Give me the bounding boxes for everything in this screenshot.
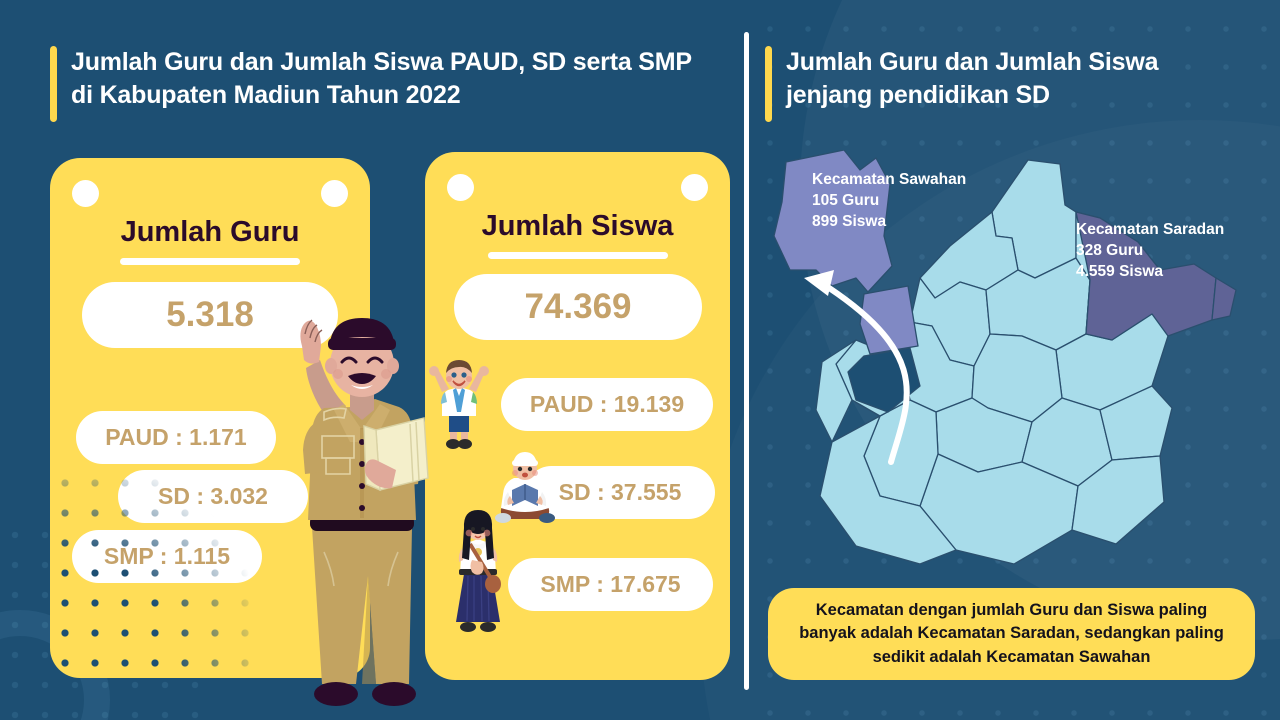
right-panel-header: Jumlah Guru dan Jumlah Siswa jenjang pen…	[765, 46, 1235, 122]
card-title-siswa: Jumlah Siswa	[425, 210, 730, 243]
summary-note-box: Kecamatan dengan jumlah Guru dan Siswa p…	[768, 588, 1255, 680]
siswa-paud-value: PAUD : 19.139	[501, 378, 713, 431]
card-title-underline	[120, 258, 300, 265]
left-panel-header: Jumlah Guru dan Jumlah Siswa PAUD, SD se…	[50, 46, 710, 122]
siswa-smp-value: SMP : 17.675	[508, 558, 713, 611]
card-hole-left	[447, 174, 474, 201]
guru-paud-value: PAUD : 1.171	[76, 411, 276, 464]
map-district-saradan-tail	[1212, 278, 1236, 320]
map-label-sawahan-students: 899 Siswa	[812, 212, 966, 233]
card-title-underline	[488, 252, 668, 259]
card-title-guru: Jumlah Guru	[50, 216, 370, 249]
student-girl-illustration	[448, 508, 508, 636]
panel-divider	[744, 32, 749, 690]
map-label-saradan-name: Kecamatan Saradan	[1076, 220, 1224, 241]
card-dot-texture	[50, 468, 250, 678]
summary-note-text: Kecamatan dengan jumlah Guru dan Siswa p…	[786, 599, 1237, 669]
page-title: Jumlah Guru dan Jumlah Siswa PAUD, SD se…	[71, 46, 710, 113]
map-label-sawahan-teachers: 105 Guru	[812, 191, 966, 212]
total-siswa-value: 74.369	[454, 274, 702, 340]
teacher-illustration	[272, 312, 452, 720]
header-accent-bar	[50, 46, 57, 122]
header-accent-bar	[765, 46, 772, 122]
student-boy-cheering-illustration	[428, 358, 490, 450]
map-label-sawahan-name: Kecamatan Sawahan	[812, 170, 966, 191]
map-section-title: Jumlah Guru dan Jumlah Siswa jenjang pen…	[786, 46, 1235, 113]
card-hole-right	[321, 180, 348, 207]
card-hole-left	[72, 180, 99, 207]
map-label-saradan-teachers: 328 Guru	[1076, 241, 1224, 262]
map-label-sawahan: Kecamatan Sawahan 105 Guru 899 Siswa	[812, 170, 966, 232]
card-hole-right	[681, 174, 708, 201]
map-label-saradan-students: 4.559 Siswa	[1076, 262, 1224, 283]
map-label-saradan: Kecamatan Saradan 328 Guru 4.559 Siswa	[1076, 220, 1224, 282]
